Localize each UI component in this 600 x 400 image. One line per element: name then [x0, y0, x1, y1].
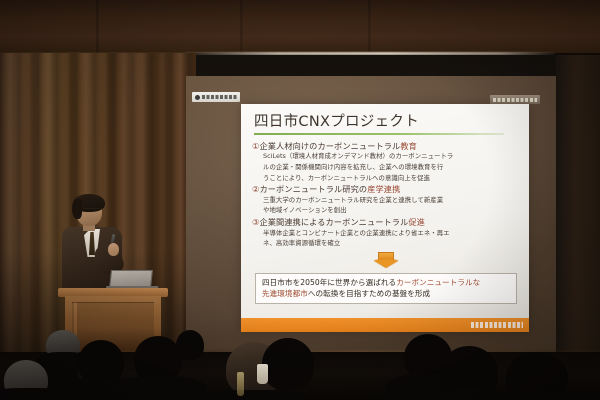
- presenter-hair-side: [72, 199, 82, 219]
- slide-item-2-body-line-2: や地域イノベーションを創出: [263, 206, 520, 216]
- arrow-head: [371, 259, 401, 268]
- audience-shoulders: [114, 376, 206, 400]
- title-underline: [254, 133, 504, 135]
- slide-item-3-heading-main: 企業間連携によるカーボンニュートラル: [259, 217, 408, 227]
- water-bottle: [237, 372, 244, 396]
- audience-shoulders: [486, 392, 596, 400]
- conference-hall-photo: 四日市CNXプロジェクト ①企業人材向けのカーボンニュートラル教育 SciLet…: [0, 0, 600, 400]
- slide-corner-label: [490, 95, 540, 104]
- slide-footer-credit: [471, 322, 523, 328]
- eyeglasses-icon: [83, 208, 102, 213]
- projected-slide: 四日市CNXプロジェクト ①企業人材向けのカーボンニュートラル教育 SciLet…: [241, 104, 529, 332]
- screen-surround-right-wall: [556, 55, 600, 355]
- slide-item-2-heading-accent: 産学連携: [367, 184, 400, 194]
- slide-item-1-body-line-2: ルの企業・関係機関向け内容を拡充し、企業への環境教育を行: [263, 163, 520, 173]
- down-arrow-icon: [371, 252, 401, 269]
- slide-content: 四日市CNXプロジェクト ①企業人材向けのカーボンニュートラル教育 SciLet…: [241, 104, 529, 332]
- slide-item-1-heading: ①企業人材向けのカーボンニュートラル教育: [252, 141, 520, 153]
- slide-item-3: ③企業間連携によるカーボンニュートラル促進 半導体企業とコンビナート企業との企業…: [252, 217, 520, 249]
- arrow-container: [252, 252, 520, 269]
- slide-item-3-heading-accent: 促進: [408, 217, 425, 227]
- conclusion-line-1-plain: 四日市市を2050年に世界から選ばれる: [262, 278, 396, 287]
- slide-item-2-heading-main: カーボンニュートラル研究の: [259, 184, 367, 194]
- conclusion-line-2-highlight: 先進環境都市: [262, 289, 308, 298]
- logo-wordmark: [202, 95, 237, 99]
- audience-shoulders: [206, 390, 306, 400]
- conclusion-line-2-plain: への転換を目指すための基盤を形成: [308, 289, 430, 298]
- audience-head: [176, 330, 204, 360]
- slide-item-3-heading: ③企業間連携によるカーボンニュートラル促進: [252, 217, 520, 229]
- slide-item-1-heading-accent: 教育: [400, 141, 417, 151]
- conclusion-line-2: 先進環境都市への転換を目指すための基盤を形成: [262, 288, 510, 299]
- slide-item-2: ②カーボンニュートラル研究の産学連携 三重大学のカーボンニュートラル研究を企業と…: [252, 184, 520, 216]
- slide-footer-bar: [241, 318, 529, 332]
- paper-cup: [257, 364, 268, 384]
- slide-item-2-body-line-1: 三重大学のカーボンニュートラル研究を企業と連携して新産業: [263, 196, 520, 206]
- logo-mark-icon: [195, 95, 200, 100]
- slide-item-3-body-line-1: 半導体企業とコンビナート企業との企業連携により省エネ・再エ: [263, 229, 520, 239]
- conclusion-line-1: 四日市市を2050年に世界から選ばれるカーボンニュートラルな: [262, 277, 510, 288]
- slide-item-1-heading-main: 企業人材向けのカーボンニュートラル: [259, 141, 400, 151]
- wall-panel-seams: [0, 0, 600, 53]
- presenter-hand: [108, 243, 119, 256]
- slide-item-1: ①企業人材向けのカーボンニュートラル教育 SciLets（環境人材育成オンデマン…: [252, 141, 520, 183]
- audience-head: [262, 338, 314, 390]
- slide-item-1-body-line-3: うことにより、カーボンニュートラルへの意識向上を促進: [263, 174, 520, 184]
- slide-corner-label-text: [493, 98, 537, 102]
- slide-item-3-body-line-2: ネ、高効率資源循環を確立: [263, 239, 520, 249]
- slide-item-2-heading: ②カーボンニュートラル研究の産学連携: [252, 184, 520, 196]
- conclusion-box: 四日市市を2050年に世界から選ばれるカーボンニュートラルな 先進環境都市への転…: [255, 273, 517, 304]
- conclusion-line-1-highlight: カーボンニュートラルな: [396, 278, 480, 287]
- organization-logo-badge: [192, 92, 240, 102]
- slide-item-1-body-line-1: SciLets（環境人材育成オンデマンド教材）のカーボンニュートラ: [263, 152, 520, 162]
- slide-title: 四日市CNXプロジェクト: [254, 113, 520, 131]
